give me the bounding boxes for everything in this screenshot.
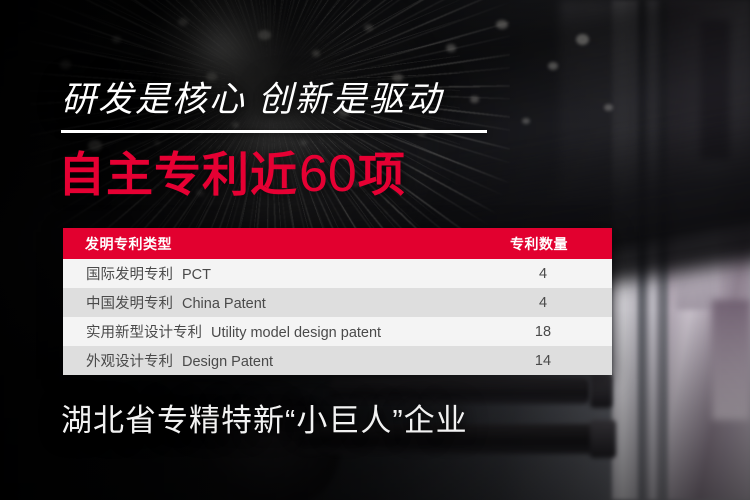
column-header-type: 发明专利类型 bbox=[63, 234, 480, 254]
table-row: 实用新型设计专利 Utility model design patent 18 bbox=[63, 317, 612, 346]
table-row: 国际发明专利 PCT 4 bbox=[63, 259, 612, 288]
table-header-row: 发明专利类型 专利数量 bbox=[63, 228, 612, 259]
column-header-count: 专利数量 bbox=[480, 234, 612, 254]
cell-patent-type: 国际发明专利 PCT bbox=[63, 263, 484, 284]
patent-type-en: PCT bbox=[182, 267, 211, 283]
cell-patent-count: 18 bbox=[484, 324, 612, 340]
patent-type-en: China Patent bbox=[182, 296, 266, 312]
cell-patent-count: 14 bbox=[484, 353, 612, 369]
table-row: 中国发明专利 China Patent 4 bbox=[63, 288, 612, 317]
headline-primary: 研发是核心 创新是驱动 bbox=[61, 80, 443, 120]
patent-type-cn: 实用新型设计专利 bbox=[86, 321, 202, 342]
patent-type-cn: 国际发明专利 bbox=[86, 263, 173, 284]
cell-patent-type: 中国发明专利 China Patent bbox=[63, 292, 484, 313]
cell-patent-type: 外观设计专利 Design Patent bbox=[63, 350, 484, 371]
table-row: 外观设计专利 Design Patent 14 bbox=[63, 346, 612, 375]
patent-table: 发明专利类型 专利数量 国际发明专利 PCT 4 中国发明专利 China Pa… bbox=[63, 228, 612, 375]
patent-type-cn: 外观设计专利 bbox=[86, 350, 173, 371]
headline-highlight-number: 60 bbox=[298, 145, 358, 203]
headline-highlight: 自主专利近60项 bbox=[58, 146, 406, 203]
headline-divider bbox=[61, 130, 487, 133]
patent-type-en: Utility model design patent bbox=[211, 325, 381, 341]
cell-patent-count: 4 bbox=[484, 295, 612, 311]
cell-patent-type: 实用新型设计专利 Utility model design patent bbox=[63, 321, 484, 342]
headline-highlight-prefix: 自主专利近 bbox=[58, 148, 298, 201]
patent-type-cn: 中国发明专利 bbox=[86, 292, 173, 313]
cell-patent-count: 4 bbox=[484, 266, 612, 282]
footer-caption: 湖北省专精特新“小巨人”企业 bbox=[61, 402, 468, 440]
patent-type-en: Design Patent bbox=[182, 354, 273, 370]
headline-highlight-suffix: 项 bbox=[358, 148, 406, 201]
patent-banner: 研发是核心 创新是驱动 自主专利近60项 发明专利类型 专利数量 国际发明专利 … bbox=[0, 0, 750, 500]
banner-content: 研发是核心 创新是驱动 自主专利近60项 发明专利类型 专利数量 国际发明专利 … bbox=[0, 0, 750, 500]
